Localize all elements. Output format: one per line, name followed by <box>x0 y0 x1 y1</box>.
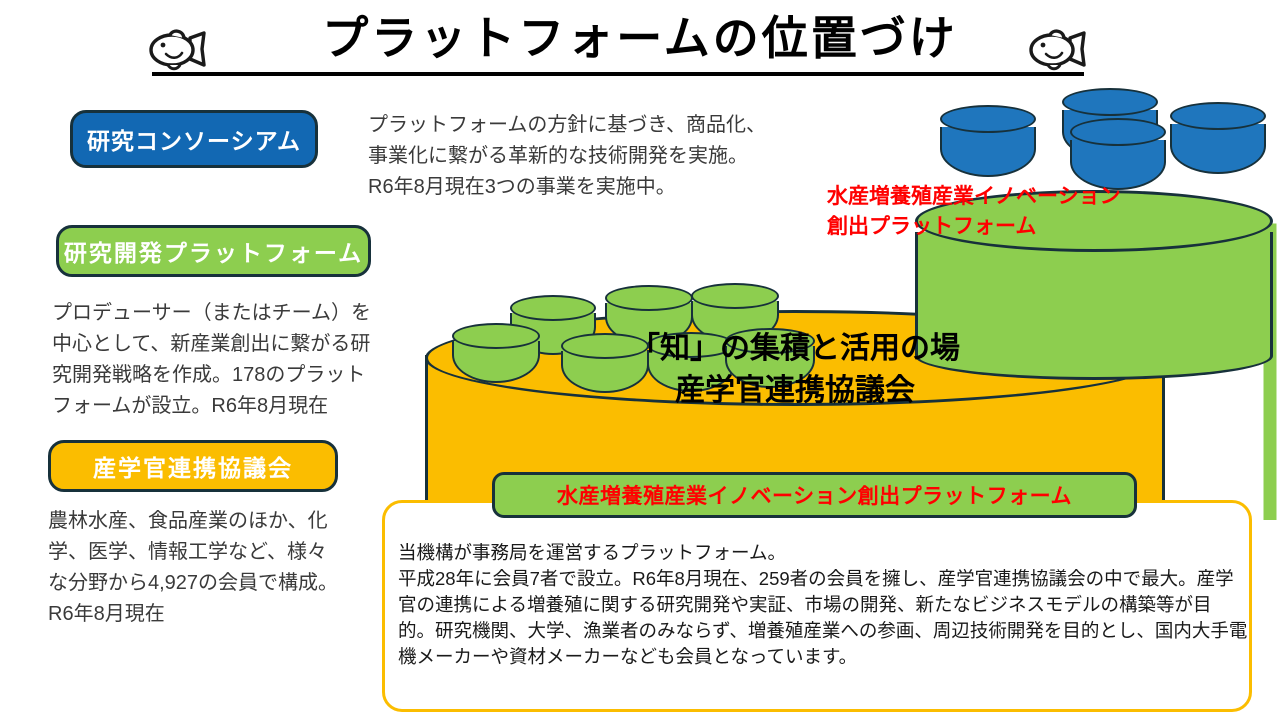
cylinder-top <box>1070 118 1166 146</box>
diagram-label-aquaculture-platform: 水産増養殖産業イノベーション 創出プラットフォーム <box>827 182 1187 242</box>
cylinder-side <box>940 127 1036 177</box>
cylinder-research-consortium <box>1070 118 1166 190</box>
fish-icon <box>1026 28 1088 72</box>
cylinder-top <box>691 283 779 309</box>
title-underline <box>152 72 1084 76</box>
title-area: プラットフォームの位置づけ <box>0 6 1280 78</box>
slide-root: プラットフォームの位置づけ 研究コンソーシアム プラットフォームの方針に基 <box>0 0 1280 720</box>
legend-pill-research-consortium[interactable]: 研究コンソーシアム <box>70 110 318 168</box>
legend-pill-rd-platform[interactable]: 研究開発プラットフォーム <box>56 225 371 277</box>
cylinder-top <box>1062 88 1158 116</box>
cylinder-top <box>1170 102 1266 130</box>
legend-description-council: 農林水産、食品産業のほか、化 学、医学、情報工学など、様々 な分野から4,927… <box>48 506 420 630</box>
callout-title-aquaculture-platform[interactable]: 水産増養殖産業イノベーション創出プラットフォーム <box>492 472 1137 518</box>
cylinder-top <box>605 285 693 311</box>
diagram-label-council-base: 「知」の集積と活用の場 産学官連携協議会 <box>485 328 1105 412</box>
cylinder-research-consortium <box>1170 102 1266 174</box>
cylinder-top <box>940 105 1036 133</box>
fish-icon <box>146 28 208 72</box>
legend-pill-council[interactable]: 産学官連携協議会 <box>48 440 338 492</box>
cylinder-side <box>1170 124 1266 174</box>
legend-description-rd-platform: プロデューサー（またはチーム）を 中心として、新産業創出に繋がる研 究開発戦略を… <box>52 298 424 422</box>
cylinder-research-consortium <box>940 105 1036 177</box>
platform-diagram: 水産増養殖産業イノベーション 創出プラットフォーム 「知」の集積と活用の場 産学… <box>415 80 1215 480</box>
cylinder-top <box>510 295 596 321</box>
callout-body-text: 当機構が事務局を運営するプラットフォーム。 平成28年に会員7者で設立。R6年8… <box>398 540 1248 670</box>
